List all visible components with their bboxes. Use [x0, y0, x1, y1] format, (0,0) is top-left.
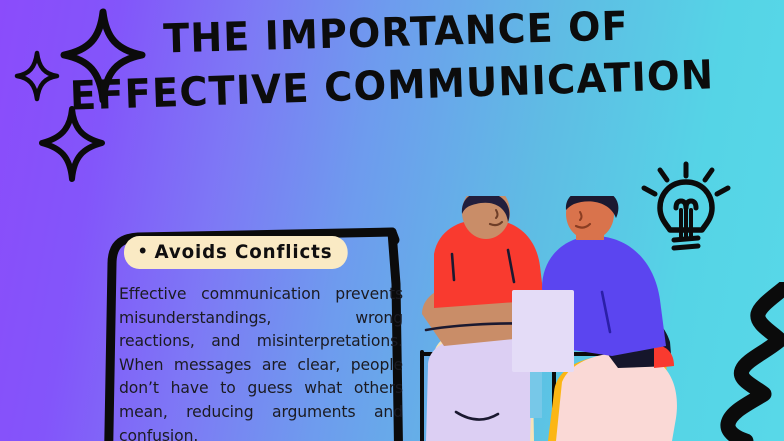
lightbulb-icon [640, 160, 732, 256]
info-card: •Avoids Conflicts Effective communicatio… [96, 224, 402, 441]
squiggle-shape [706, 282, 784, 441]
badge-bullet-icon: • [137, 242, 148, 262]
badge-avoids-conflicts: •Avoids Conflicts [124, 236, 348, 269]
sparkle-large-icon [60, 8, 146, 104]
sparkle-small-icon [14, 50, 60, 102]
poster-canvas: The Importance of Effective Communicatio… [0, 0, 784, 441]
sparkle-medium-icon [38, 105, 106, 183]
badge-label: Avoids Conflicts [155, 241, 333, 263]
card-body-text: Effective communication prevents misunde… [119, 283, 403, 441]
